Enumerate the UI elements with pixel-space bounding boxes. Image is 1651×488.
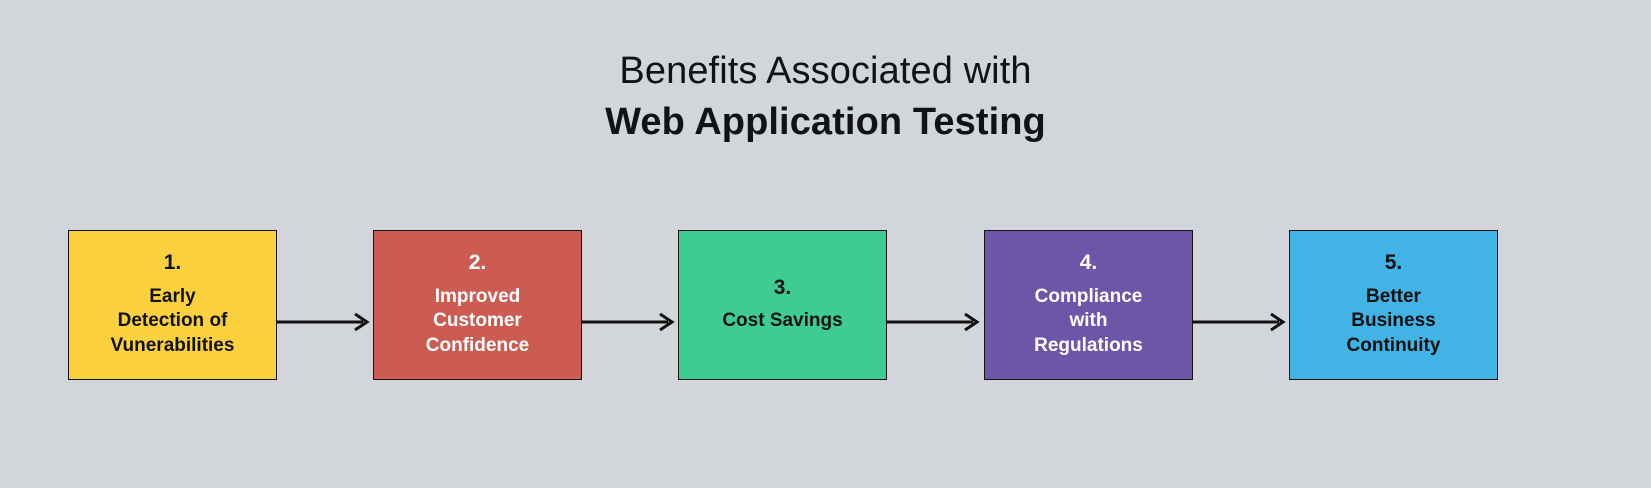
flow-node-4[interactable]: 4. Compliance with Regulations [984,230,1193,380]
flow-node-5[interactable]: 5. Better Business Continuity [1289,230,1498,380]
flow-node-5-index: 5. [1385,251,1403,274]
arrow-right-icon [582,310,678,334]
flow-arrow-4-to-5 [1193,310,1289,334]
flow-node-2-index: 2. [469,251,487,274]
arrow-right-icon [277,310,373,334]
flow-node-4-index: 4. [1080,251,1098,274]
flow-node-2-label: Improved Customer Confidence [418,285,537,359]
flow-node-5-label: Better Business Continuity [1339,285,1449,359]
flow-node-4-label: Compliance with Regulations [1026,285,1151,359]
benefits-flow: 1. Early Detection of Vunerabilities 2. … [0,230,1651,382]
title-line-secondary: Web Application Testing [0,103,1651,141]
flow-arrow-1-to-2 [277,310,373,334]
flow-node-3[interactable]: 3. Cost Savings [678,230,887,380]
flow-node-3-label: Cost Savings [714,309,850,334]
flow-node-2[interactable]: 2. Improved Customer Confidence [373,230,582,380]
diagram-canvas: Benefits Associated with Web Application… [0,0,1651,488]
arrow-right-icon [1193,310,1289,334]
flow-node-1-index: 1. [164,251,182,274]
arrow-right-icon [887,310,983,334]
flow-node-1-label: Early Detection of Vunerabilities [103,285,243,359]
flow-arrow-3-to-4 [887,310,983,334]
flow-node-3-index: 3. [774,276,792,299]
flow-node-1[interactable]: 1. Early Detection of Vunerabilities [68,230,277,380]
title-line-primary: Benefits Associated with [0,52,1651,103]
page-title: Benefits Associated with Web Application… [0,52,1651,141]
flow-arrow-2-to-3 [582,310,678,334]
